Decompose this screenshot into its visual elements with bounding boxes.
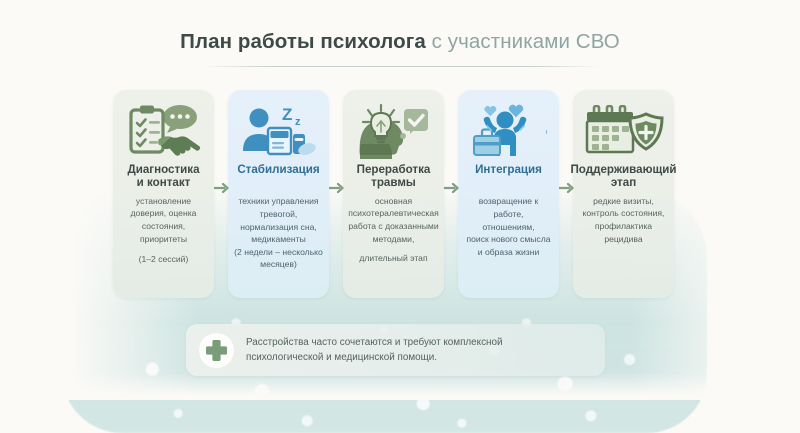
svg-text:z: z	[295, 116, 301, 128]
checkmark-badge-icon	[400, 109, 428, 139]
stage-5-title-line: этап	[570, 176, 676, 189]
stage-1-title-line: и контакт	[127, 176, 199, 189]
svg-text:Z: Z	[282, 105, 292, 124]
stages-row: Диагностика и контакт установление довер…	[113, 90, 691, 298]
banner-icon-circle	[200, 334, 233, 367]
banner-line: психологической и медицинской помощи.	[246, 350, 503, 366]
stage-4-description: возвращение к работе, отношениям, поиск …	[463, 195, 554, 258]
stage-3-title: Переработка травмы	[357, 163, 431, 190]
stage-card-maintenance[interactable]: Поддерживающий этап редкие визиты, контр…	[573, 90, 674, 298]
title-divider	[201, 66, 601, 67]
calendar-shield-icon	[584, 105, 664, 157]
stage-1-title: Диагностика и контакт	[127, 163, 199, 190]
person-medication-icon: Z z	[239, 104, 319, 158]
medical-cross-icon	[206, 340, 227, 361]
shield-plus-icon	[630, 114, 662, 149]
stage-1-description: установление доверия, оценка состояния, …	[118, 195, 209, 266]
handshake-icon	[158, 136, 200, 155]
stage-1-icon-group	[125, 103, 203, 159]
page-title-strong: План работы психолога	[180, 30, 426, 53]
stage-3-desc-line: работа с доказанными	[348, 220, 439, 233]
stage-5-description: редкие визиты, контроль состояния, профи…	[582, 195, 666, 245]
stage-3-icon-group	[354, 103, 434, 159]
celebrating-person-icon	[471, 104, 547, 158]
stage-2-desc-line: месяцев)	[234, 258, 323, 271]
background-fade-bottom	[0, 372, 800, 400]
stage-4-title-line: Интеграция	[475, 163, 542, 176]
infographic-canvas: План работы психолога с участниками СВО	[0, 0, 800, 400]
stage-2-title: Стабилизация	[237, 163, 319, 176]
head-lightbulb-icon	[354, 103, 434, 159]
stage-3-desc-line: методами,	[348, 233, 439, 246]
stage-4-icon-group	[471, 103, 547, 159]
stage-1-desc-line: состояния, приоритеты	[119, 220, 208, 245]
stage-3-title-line: Переработка	[357, 163, 431, 176]
stage-1-desc-line: установление	[119, 195, 208, 208]
stage-2-desc-line: нормализация сна,	[234, 221, 323, 234]
footer-note-banner: Расстройства часто сочетаются и требуют …	[186, 324, 605, 376]
stage-5-desc-line: профилактика	[583, 220, 665, 233]
clipboard-checklist-icon	[125, 104, 203, 158]
stage-5-title-line: Поддерживающий	[570, 163, 676, 176]
stage-card-integration[interactable]: Интеграция возвращение к работе, отношен…	[458, 90, 559, 298]
stage-1-desc-line: доверия, оценка	[119, 207, 208, 220]
calendar-icon	[587, 106, 633, 152]
stage-3-desc-line: основная	[348, 195, 439, 208]
stage-5-desc-line: рецидива	[583, 233, 665, 246]
banner-message: Расстройства часто сочетаются и требуют …	[246, 335, 503, 366]
stage-5-desc-line: редкие визиты,	[583, 195, 665, 208]
stage-4-title: Интеграция	[475, 163, 542, 176]
stage-2-desc-line: техники управления	[234, 195, 323, 208]
stage-2-title-line: Стабилизация	[237, 163, 319, 176]
stage-3-desc-line: длительный этап	[348, 252, 439, 265]
stage-2-desc-line: медикаменты	[234, 233, 323, 246]
speech-bubble-icon	[163, 105, 197, 133]
arrow-right-icon	[444, 182, 460, 194]
stage-card-trauma-processing[interactable]: Переработка травмы основная психотералев…	[343, 90, 444, 298]
arrow-right-icon	[559, 182, 575, 194]
page-title: План работы психолога с участниками СВО	[0, 30, 800, 54]
clipboard-icon	[131, 106, 163, 153]
stage-4-desc-line: отношениям,	[464, 221, 553, 234]
stage-card-diagnostics[interactable]: Диагностика и контакт установление довер…	[113, 90, 214, 298]
page-title-light: с участниками СВО	[432, 30, 620, 53]
medication-box-icon	[268, 128, 291, 154]
stage-5-title: Поддерживающий этап	[570, 163, 676, 190]
sleep-zzz-icon: Z z	[282, 105, 301, 128]
stage-3-desc-line: психотералевтическая	[348, 207, 439, 220]
banner-line: Расстройства часто сочетаются и требуют …	[246, 335, 503, 351]
stage-4-desc-line: и образа жизни	[464, 246, 553, 259]
arrow-right-icon	[329, 182, 345, 194]
stage-3-title-line: травмы	[357, 176, 431, 189]
stage-1-title-line: Диагностика	[127, 163, 199, 176]
stage-5-icon-group	[584, 103, 664, 159]
stage-card-stabilization[interactable]: Z z	[228, 90, 329, 298]
stage-2-desc-line: (2 недели – несколько	[234, 246, 323, 259]
stage-2-description: техники управления тревогой, нормализаци…	[233, 195, 324, 271]
arrow-right-icon	[214, 182, 230, 194]
stage-4-desc-line: возвращение к работе,	[464, 195, 553, 220]
stage-1-desc-line: (1–2 сессий)	[119, 253, 208, 266]
stage-3-description: основная психотералевтическая работа с д…	[347, 195, 440, 265]
stage-2-desc-line: тревогой,	[234, 208, 323, 221]
stage-2-icon-group: Z z	[239, 103, 319, 159]
stage-4-desc-line: поиск нового смысла	[464, 233, 553, 246]
stage-5-desc-line: контроль состояния,	[583, 207, 665, 220]
